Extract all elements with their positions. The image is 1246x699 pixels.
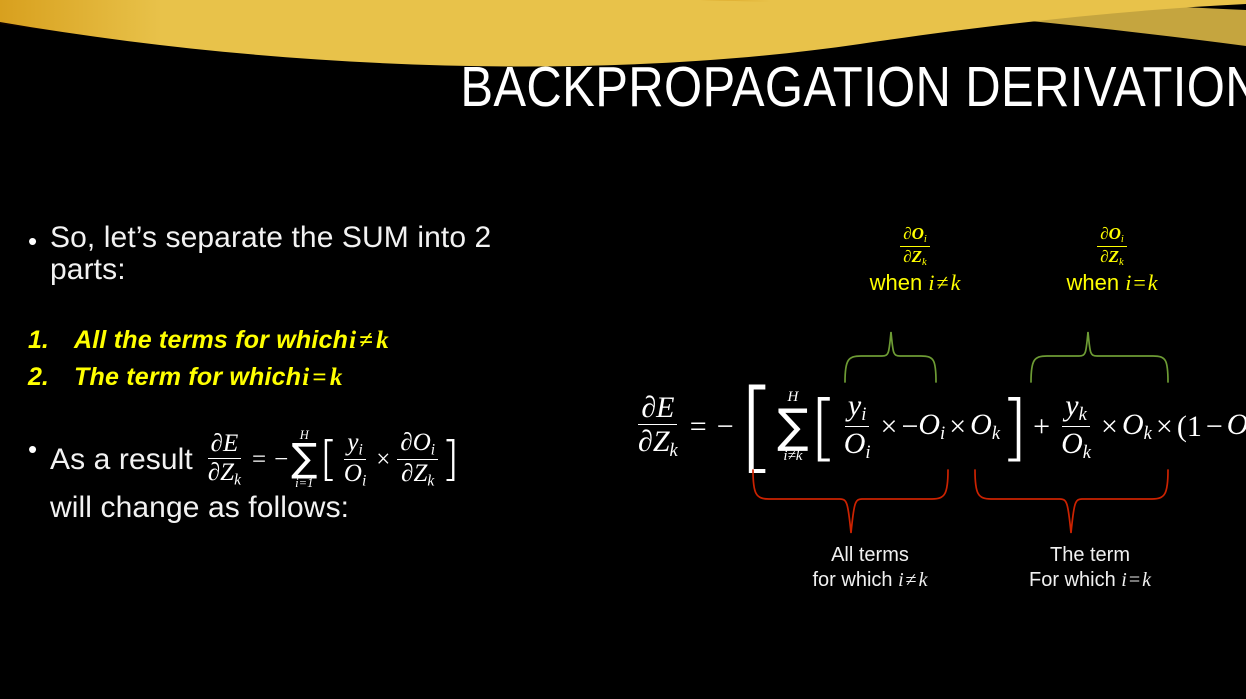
bullet2-lead-text: As a result — [50, 444, 193, 476]
bullet1-line2: parts: — [50, 254, 520, 286]
list-item-index: 2. — [28, 363, 74, 392]
list-item: 1. All the terms for whichi≠k — [28, 326, 548, 355]
inner-bracket-close: ] — [1000, 385, 1028, 469]
times-sign-2: × — [945, 410, 970, 444]
list-item-var2: k — [329, 364, 344, 391]
leading-minus-sign: − — [713, 410, 738, 444]
bracket-close: ] — [441, 432, 460, 487]
list-item-operator: ≠ — [357, 327, 375, 354]
outer-bracket-open: [ — [738, 369, 777, 484]
numbered-list: 1. All the terms for whichi≠k 2. The ter… — [28, 326, 548, 392]
term-Oi: Oi — [918, 408, 945, 445]
times-sign: × — [372, 446, 394, 474]
summation-symbol: H ∑ i=1 — [291, 430, 317, 491]
equation-diagram-area: ∂Oi ∂Zk when i≠k ∂Oi ∂Zk when i=k ∂E ∂Zk… — [610, 225, 1230, 605]
term-Ok-2: Ok — [1122, 408, 1152, 445]
slide-title-text: BACKPROPAGATION DERIVATION — [460, 58, 1246, 118]
annotation-when-right: when i=k — [1022, 270, 1202, 296]
slide-title: BACKPROPAGATION DERIVATION — [330, 58, 1226, 130]
caption-left-line2: for which i≠k — [770, 568, 970, 593]
annotation-derivative-i-neq-k: ∂Oi ∂Zk when i≠k — [825, 225, 1005, 296]
annotation-fraction-right: ∂Oi ∂Zk — [1022, 225, 1202, 268]
bracket-open: [ — [317, 432, 338, 487]
bullet1-line1: So, let’s separate the SUM into 2 — [50, 222, 520, 254]
fraction-dE-dZk: ∂E ∂Zk — [202, 431, 247, 489]
caption-right-line1: The term — [990, 543, 1190, 568]
times-sign-1: × — [877, 410, 902, 444]
caption-all-terms: All terms for which i≠k — [770, 543, 970, 593]
fraction-yk-Ok: yk Ok — [1055, 390, 1097, 462]
minus-sign-inner: − — [1202, 410, 1227, 444]
summation-symbol-i-neq-k: H ∑ i≠k — [777, 390, 808, 463]
negative-sign: − — [901, 410, 918, 444]
fraction-dOi-dZk: ∂Oi ∂Zk — [394, 430, 441, 490]
list-item: 2. The term for whichi=k — [28, 363, 548, 392]
minus-sign: − — [271, 446, 291, 474]
inline-formula-result: ∂E ∂Zk = − H ∑ i=1 [ yi Oi × — [202, 430, 460, 491]
fraction-yi-Oi: yi Oi — [338, 430, 372, 490]
annotation-derivative-i-eq-k: ∂Oi ∂Zk when i=k — [1022, 225, 1202, 296]
lhs-fraction-dE-dZk: ∂E ∂Zk — [632, 392, 684, 461]
caption-the-term: The term For which i=k — [990, 543, 1190, 593]
bullet-dot-icon: • — [28, 430, 50, 468]
list-item-var1: i — [348, 327, 357, 354]
list-item-index: 1. — [28, 326, 74, 355]
list-item-var2: k — [375, 327, 390, 354]
times-sign-4: × — [1152, 410, 1177, 444]
equals-sign: = — [684, 410, 713, 444]
list-item-text: The term for which — [74, 363, 301, 391]
bullet-item-separate-sum: • So, let’s separate the SUM into 2 part… — [28, 222, 548, 286]
bullet-item-as-a-result: • As a result ∂E ∂Zk = − H ∑ i=1 [ — [28, 430, 548, 524]
term-Ok-3: Ok — [1227, 408, 1246, 445]
main-equation: ∂E ∂Zk = − [ H ∑ i≠k [ yi Oi × − Oi × Ok… — [632, 369, 1232, 484]
times-sign-3: × — [1097, 410, 1122, 444]
bullet2-line2: will change as follows: — [50, 492, 548, 524]
caption-left-line1: All terms — [770, 543, 970, 568]
annotation-when-left: when i≠k — [825, 270, 1005, 296]
list-item-operator: = — [310, 364, 328, 391]
fraction-yi-Oi: yi Oi — [838, 390, 877, 462]
annotation-fraction-left: ∂Oi ∂Zk — [825, 225, 1005, 268]
term-Ok-1: Ok — [970, 408, 1000, 445]
inner-bracket-open: [ — [810, 385, 838, 469]
list-item-label: All the terms for whichi≠k — [74, 326, 390, 355]
paren-open: ( — [1177, 410, 1187, 444]
list-item-label: The term for whichi=k — [74, 363, 344, 392]
bullet-dot-icon: • — [28, 222, 50, 260]
caption-right-line2: For which i=k — [990, 568, 1190, 593]
equals-sign: = — [247, 446, 271, 474]
list-item-text: All the terms for which — [74, 326, 348, 354]
plus-sign: + — [1028, 410, 1055, 444]
constant-one: 1 — [1187, 410, 1202, 444]
left-content-column: • So, let’s separate the SUM into 2 part… — [28, 222, 548, 524]
